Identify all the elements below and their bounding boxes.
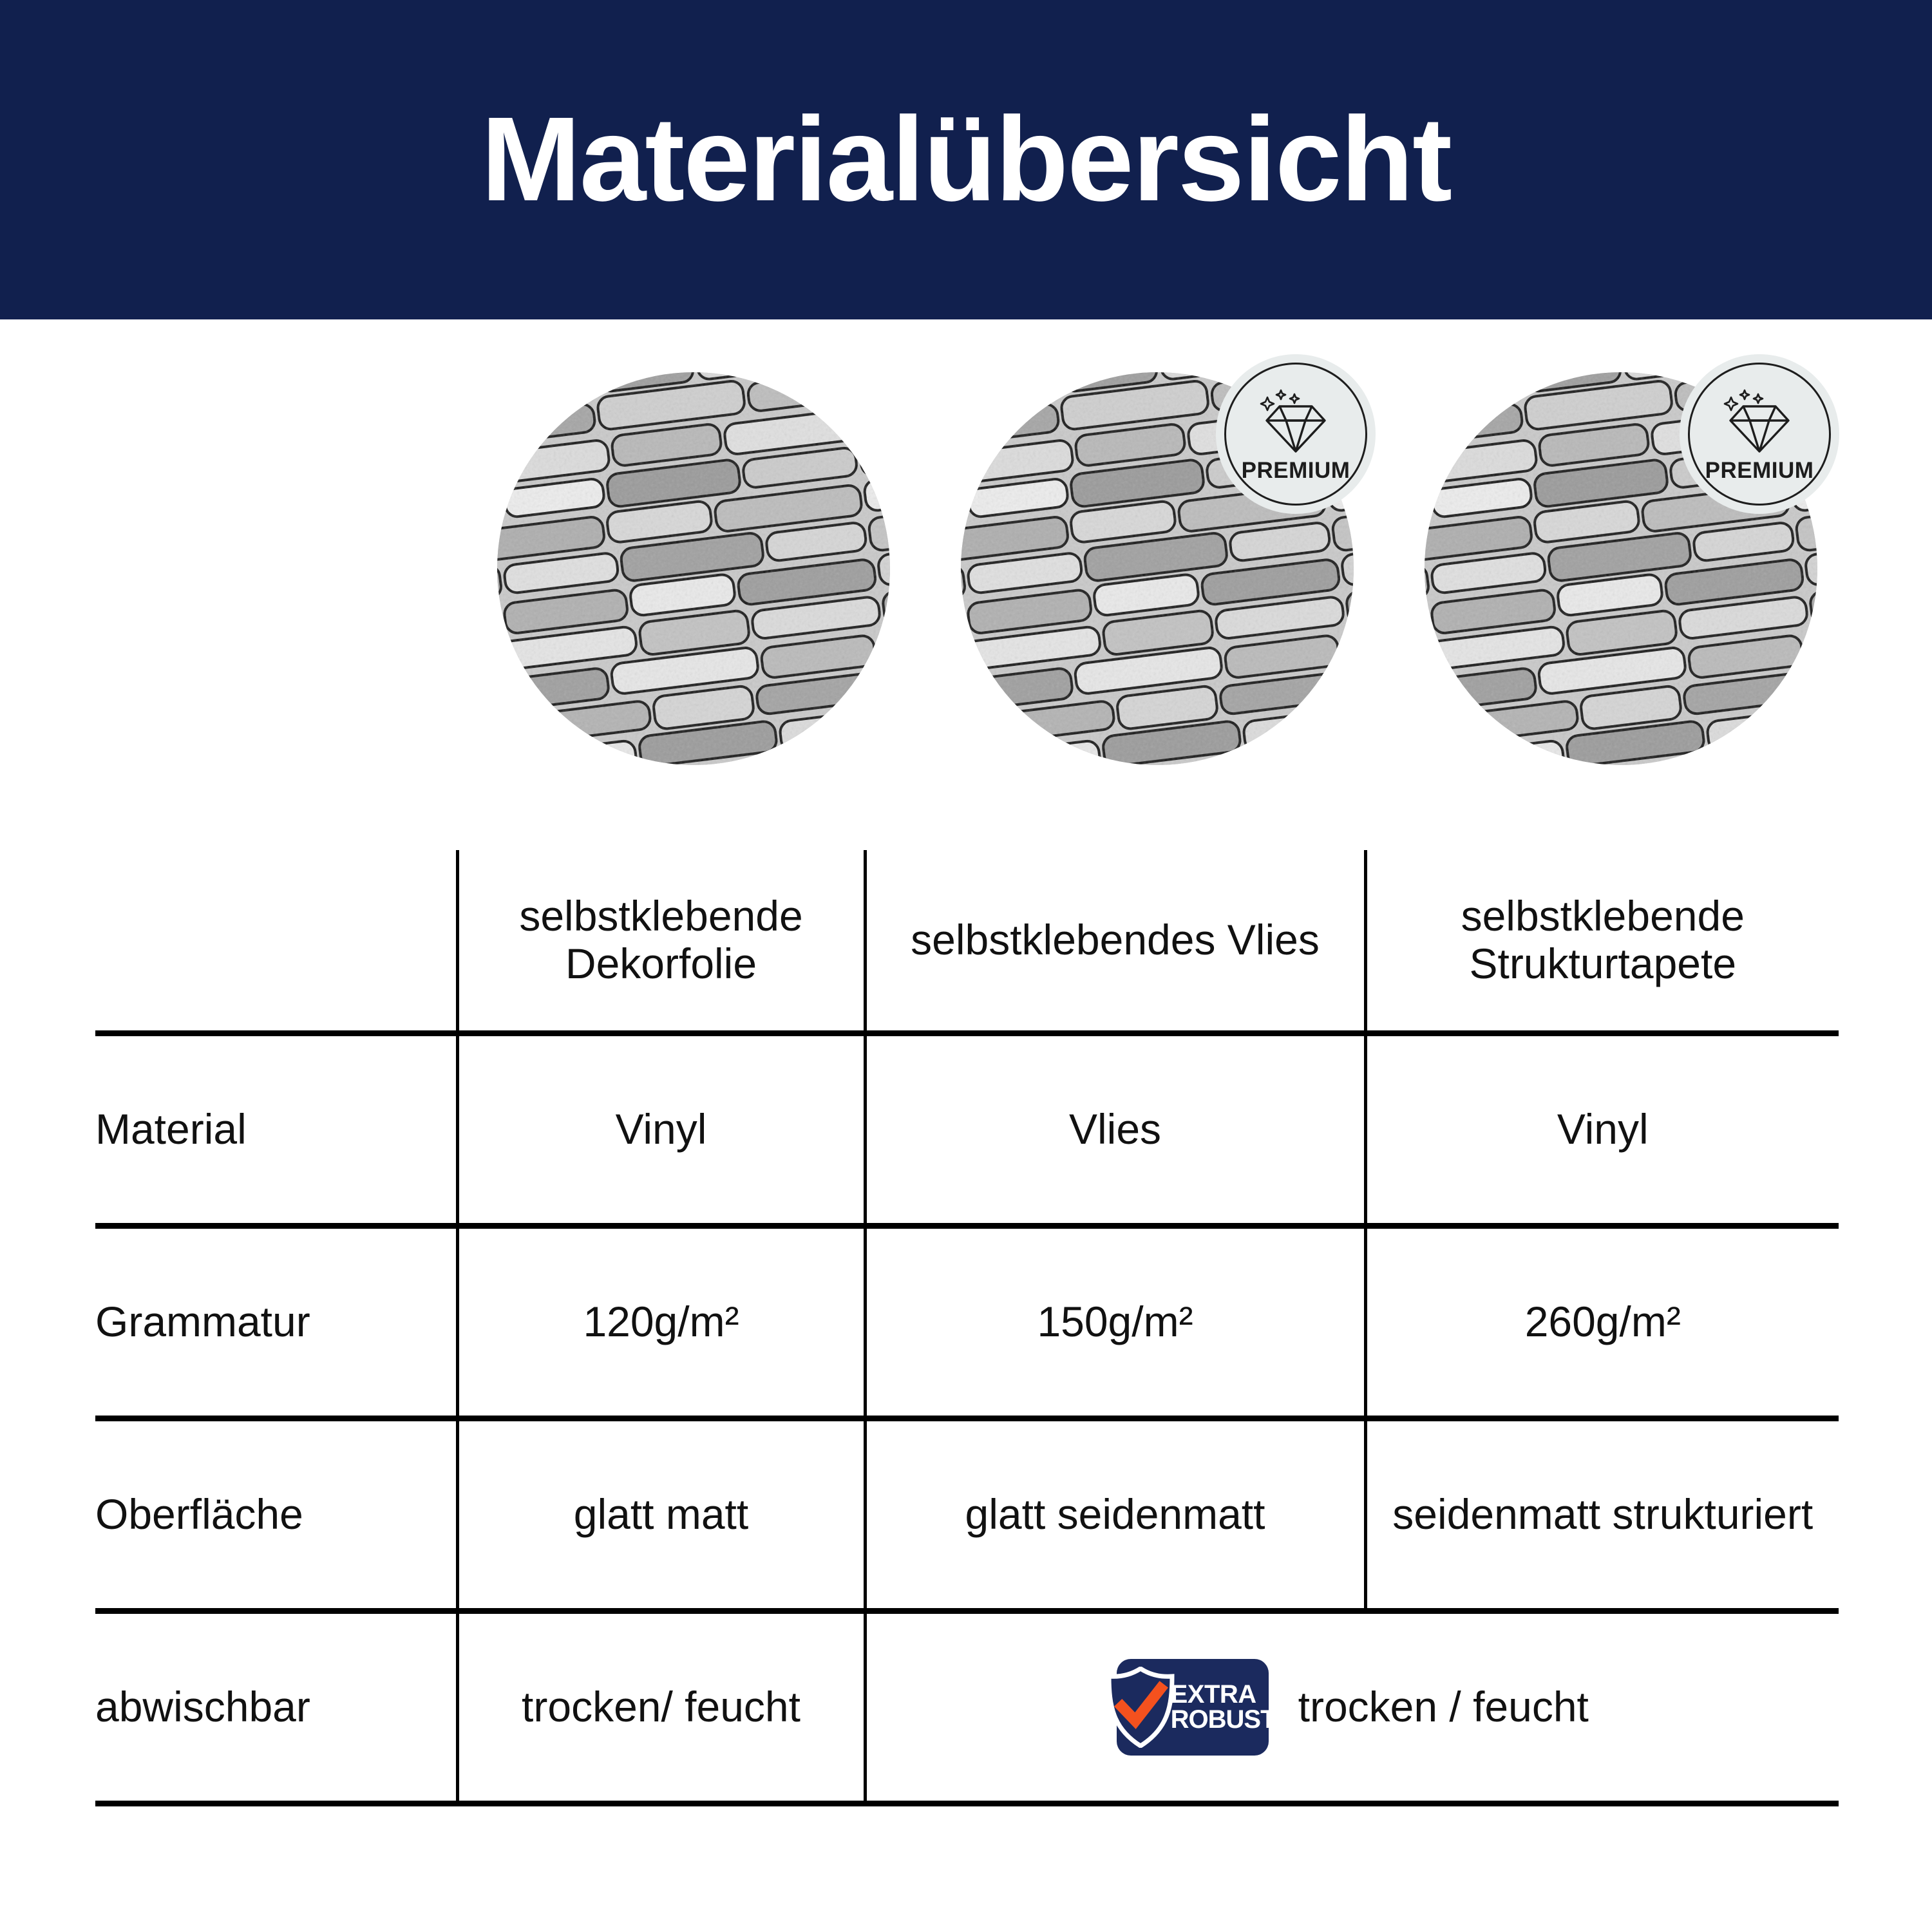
cell-abwischbar-vlies-strukturtapete: EXTRA ROBUST trocken / feucht xyxy=(865,1611,1839,1804)
cell-oberflaeche-strukturtapete: seidenmatt strukturiert xyxy=(1365,1419,1839,1611)
header-cell-vlies: selbstklebendes Vlies xyxy=(865,850,1365,1034)
stone-texture-icon xyxy=(497,372,890,765)
cell-oberflaeche-dekorfolie: glatt matt xyxy=(457,1419,865,1611)
cell-grammatur-strukturtapete: 260g/m² xyxy=(1365,1226,1839,1419)
cell-grammatur-dekorfolie: 120g/m² xyxy=(457,1226,865,1419)
cell-abwischbar-dekorfolie: trocken/ feucht xyxy=(457,1611,865,1804)
table-row: Material Vinyl Vlies Vinyl xyxy=(95,1034,1839,1226)
swatch-row: PREMIUM xyxy=(0,361,1932,786)
page-title: Materialübersicht xyxy=(481,100,1451,220)
header-cell-blank xyxy=(95,850,457,1034)
cell-material-vlies: Vlies xyxy=(865,1034,1365,1226)
row-label-grammatur: Grammatur xyxy=(95,1226,457,1419)
swatch-strukturtapete[interactable]: PREMIUM xyxy=(1425,372,1817,765)
row-label-oberflaeche: Oberfläche xyxy=(95,1419,457,1611)
premium-badge: PREMIUM xyxy=(1680,354,1839,514)
premium-label: PREMIUM xyxy=(1242,458,1350,484)
table-row: Grammatur 120g/m² 150g/m² 260g/m² xyxy=(95,1226,1839,1419)
header-band: Materialübersicht xyxy=(0,0,1932,319)
row-label-material: Material xyxy=(95,1034,457,1226)
table-row: Oberfläche glatt matt glatt seidenmatt s… xyxy=(95,1419,1839,1611)
premium-badge: PREMIUM xyxy=(1216,354,1376,514)
diamond-icon xyxy=(1721,388,1797,455)
swatch-vlies[interactable]: PREMIUM xyxy=(961,372,1354,765)
cell-material-strukturtapete: Vinyl xyxy=(1365,1034,1839,1226)
cell-grammatur-vlies: 150g/m² xyxy=(865,1226,1365,1419)
premium-label: PREMIUM xyxy=(1705,458,1814,484)
swatch-dekorfolie[interactable] xyxy=(497,372,890,765)
extra-robust-badge: EXTRA ROBUST xyxy=(1117,1659,1269,1756)
cell-material-dekorfolie: Vinyl xyxy=(457,1034,865,1226)
diamond-icon xyxy=(1258,388,1334,455)
header-cell-dekorfolie: selbstklebende Dekorfolie xyxy=(457,850,865,1034)
material-comparison-table: selbstklebende Dekorfolie selbstklebende… xyxy=(95,850,1839,1806)
row-label-abwischbar: abwischbar xyxy=(95,1611,457,1804)
table-row: abwischbar trocken/ feucht EXTRA ROBUST xyxy=(95,1611,1839,1804)
table-header-row: selbstklebende Dekorfolie selbstklebende… xyxy=(95,850,1839,1034)
cell-oberflaeche-vlies: glatt seidenmatt xyxy=(865,1419,1365,1611)
robust-line-1: EXTRA xyxy=(1171,1682,1276,1707)
shield-check-icon xyxy=(1105,1667,1176,1748)
cell-abwischbar-value: trocken / feucht xyxy=(1298,1683,1589,1731)
swatch-circle-1 xyxy=(497,372,890,765)
robust-line-2: ROBUST xyxy=(1171,1707,1276,1732)
header-cell-strukturtapete: selbstklebende Strukturtapete xyxy=(1365,850,1839,1034)
